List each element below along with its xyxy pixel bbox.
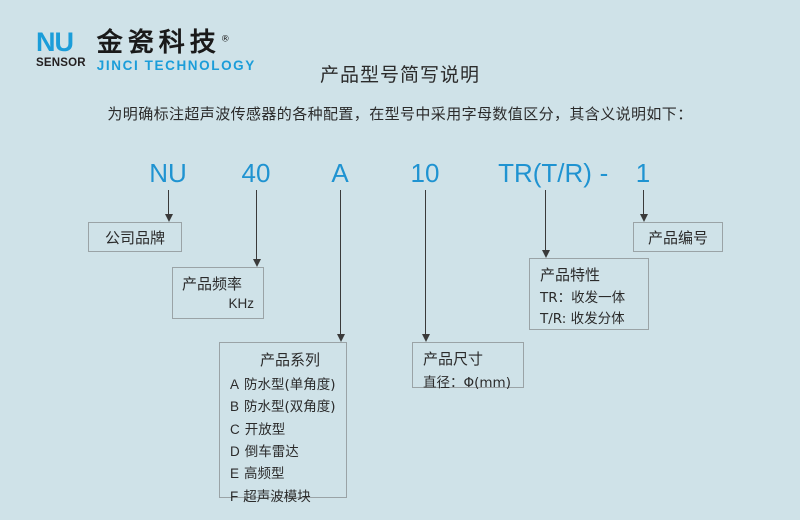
connector-brand-arrowhead-icon	[165, 214, 173, 222]
callout-product-serial-label: 产品编号	[648, 227, 708, 248]
connector-serial-line	[643, 190, 644, 215]
series-item-e: E高频型	[230, 463, 336, 485]
callout-box-product-serial: 产品编号	[633, 222, 723, 252]
series-item-key: D	[230, 441, 240, 462]
callout-box-company-brand: 公司品牌	[88, 222, 182, 252]
callout-feature-tr: TR：收发一体	[540, 286, 638, 306]
model-code-token-0: NU	[149, 158, 187, 189]
series-item-c: C开放型	[230, 419, 336, 441]
series-item-a: A防水型(单角度)	[230, 374, 336, 396]
model-code-token-4: TR(T/R)	[498, 158, 592, 189]
callout-feature-title: 产品特性	[540, 264, 638, 285]
callout-company-brand-label: 公司品牌	[105, 227, 165, 248]
callout-series-title: 产品系列	[230, 349, 336, 370]
callout-frequency-title: 产品频率	[182, 273, 254, 294]
page-subtitle: 为明确标注超声波传感器的各种配置，在型号中采用字母数值区分，其含义说明如下：	[0, 103, 800, 124]
callout-size-title: 产品尺寸	[423, 348, 513, 369]
series-item-label: 超声波模块	[243, 487, 311, 508]
series-item-key: E	[230, 463, 239, 484]
callout-box-product-frequency: 产品频率 KHz	[172, 267, 264, 319]
series-item-b: B防水型(双角度)	[230, 396, 336, 418]
series-item-key: A	[230, 374, 239, 395]
connector-serial-arrowhead-icon	[640, 214, 648, 222]
series-item-key: B	[230, 396, 239, 417]
registered-trademark-icon: ®	[221, 34, 230, 44]
connector-size-arrowhead-icon	[422, 334, 430, 342]
series-item-key: F	[230, 486, 238, 507]
connector-series-arrowhead-icon	[337, 334, 345, 342]
logo-company-name-cn: 金瓷科技®	[97, 30, 230, 56]
diagram-page: NU SENSOR 金瓷科技® JINCI TECHNOLOGY 产品型号简写说…	[0, 0, 800, 520]
callout-box-product-size: 产品尺寸 直径：Φ(mm)	[412, 342, 524, 388]
callout-size-diameter: 直径：Φ(mm)	[423, 371, 513, 391]
series-item-label: 高频型	[244, 464, 285, 485]
connector-brand-line	[168, 190, 169, 215]
connector-feature-arrowhead-icon	[542, 250, 550, 258]
connector-frequency-line	[256, 190, 257, 260]
callout-feature-t-slash-r: T/R: 收发分体	[540, 307, 638, 327]
connector-frequency-arrowhead-icon	[253, 259, 261, 267]
model-code-token-1: 40	[242, 158, 271, 189]
model-code-token-5: -	[600, 158, 609, 189]
connector-size-line	[425, 190, 426, 335]
model-code-token-3: 10	[411, 158, 440, 189]
callout-frequency-unit: KHz	[182, 296, 254, 311]
series-item-label: 开放型	[245, 420, 286, 441]
callout-series-list: A防水型(单角度)B防水型(双角度)C开放型D倒车雷达E高频型F超声波模块	[230, 374, 336, 508]
series-item-key: C	[230, 419, 240, 440]
callout-box-product-feature: 产品特性 TR：收发一体 T/R: 收发分体	[529, 258, 649, 330]
series-item-label: 防水型(单角度)	[244, 375, 336, 396]
series-item-label: 防水型(双角度)	[244, 397, 336, 418]
connector-feature-line	[545, 190, 546, 251]
page-title: 产品型号简写说明	[0, 60, 800, 87]
model-code-token-6: 1	[636, 158, 650, 189]
series-item-label: 倒车雷达	[245, 442, 299, 463]
series-item-d: D倒车雷达	[230, 441, 336, 463]
series-item-f: F超声波模块	[230, 486, 336, 508]
logo-company-name-cn-text: 金瓷科技	[97, 28, 221, 58]
model-code-token-2: A	[331, 158, 348, 189]
callout-box-product-series: 产品系列 A防水型(单角度)B防水型(双角度)C开放型D倒车雷达E高频型F超声波…	[219, 342, 347, 498]
logo-mark-text: NU	[36, 30, 73, 56]
connector-series-line	[340, 190, 341, 335]
